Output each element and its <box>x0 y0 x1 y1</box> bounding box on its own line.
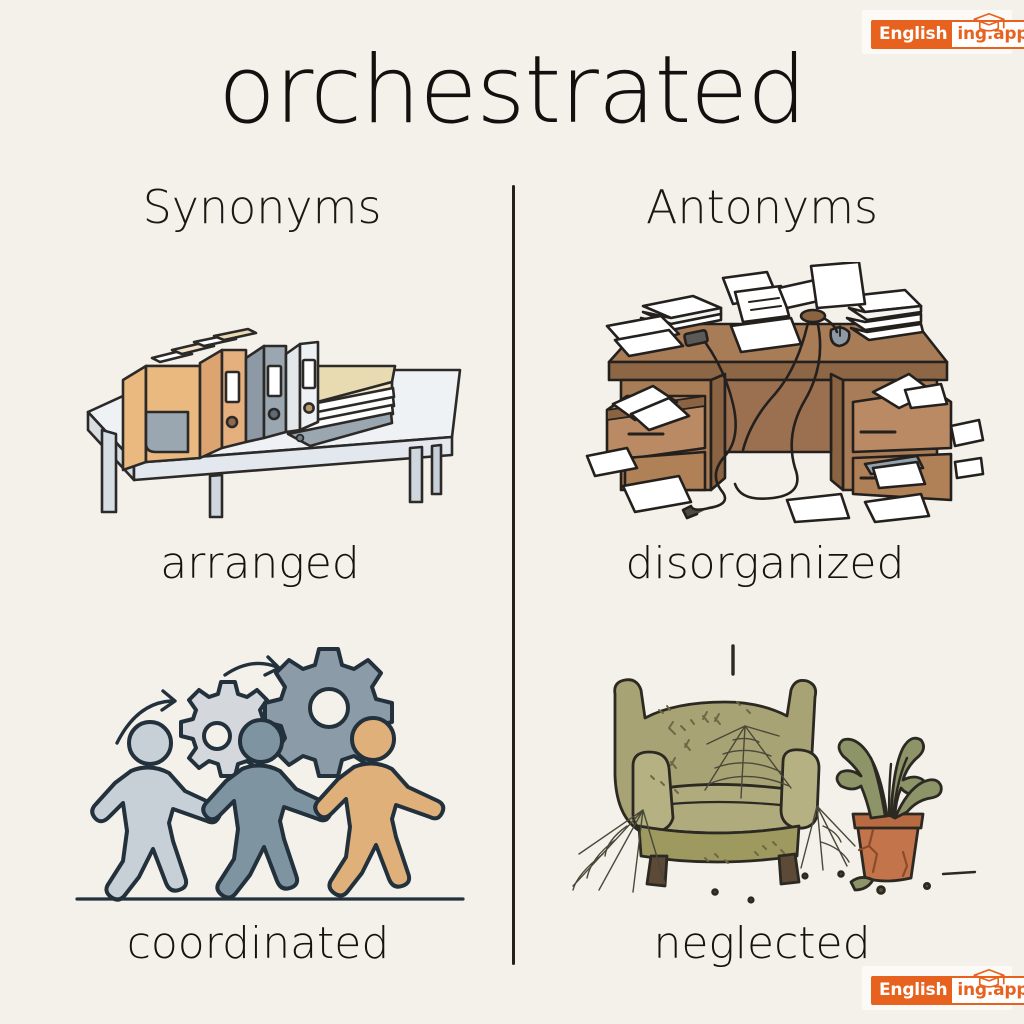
brand-logo-bottom-right[interactable]: English ing.app <box>862 966 1012 1010</box>
word-card-page: orchestrated Synonyms Antonyms <box>0 0 1024 1024</box>
antonym-label-1: disorganized <box>515 538 1015 589</box>
illustration-organized-binders <box>60 262 480 524</box>
illustration-neglected-armchair <box>555 640 985 908</box>
page-title: orchestrated <box>0 42 1024 141</box>
synonyms-heading: Synonyms <box>32 180 492 234</box>
brand-logo-top-right[interactable]: English ing.app <box>862 10 1012 54</box>
graduation-cap-icon <box>970 11 1008 35</box>
antonyms-heading: Antonyms <box>532 180 992 234</box>
graduation-cap-icon <box>970 967 1008 991</box>
brand-logo-text-primary: English <box>873 978 952 1003</box>
antonym-label-2: neglected <box>512 918 1012 969</box>
illustration-messy-desk <box>565 262 985 524</box>
synonym-label-1: arranged <box>10 538 510 589</box>
illustration-coordinated-figures <box>65 645 475 907</box>
synonym-label-2: coordinated <box>8 918 508 969</box>
brand-logo-text-primary: English <box>873 22 952 47</box>
